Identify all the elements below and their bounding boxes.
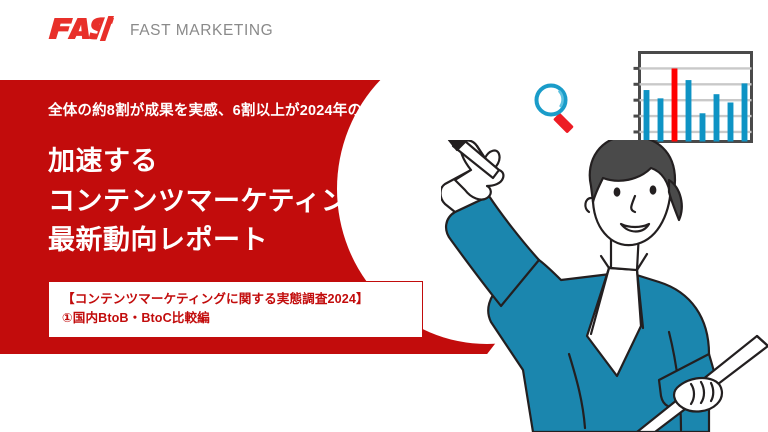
headline-line-3: 最新動向レポート (48, 221, 488, 260)
magnifying-glass-icon (518, 80, 576, 145)
headline-line-1: 加速する (48, 142, 488, 181)
brand-header: FAST MARKETING (48, 17, 273, 45)
survey-tag-box: 【コンテンツマーケティングに関する実態調査2024】 ①国内BtoB・BtoC比… (48, 281, 423, 338)
brand-wordmark: FAST MARKETING (130, 23, 273, 39)
survey-tag-line-2: ①国内BtoB・BtoC比較編 (62, 309, 410, 328)
headline-line-2: コンテンツマーケティングの (48, 182, 488, 221)
survey-tag-line-1: 【コンテンツマーケティングに関する実態調査2024】 (62, 290, 410, 309)
poster-canvas: FAST MARKETING (0, 0, 768, 432)
businessperson-illustration (441, 140, 768, 432)
hero-headline: 加速する コンテンツマーケティングの 最新動向レポート (48, 142, 488, 260)
hero-kicker: 全体の約8割が成果を実感、6割以上が2024年の予算増額へ (48, 103, 488, 120)
bar-chart-graphic (631, 51, 753, 148)
hero-text-block: 全体の約8割が成果を実感、6割以上が2024年の予算増額へ 加速する コンテンツ… (48, 103, 488, 261)
fast-logo-icon (48, 16, 114, 46)
